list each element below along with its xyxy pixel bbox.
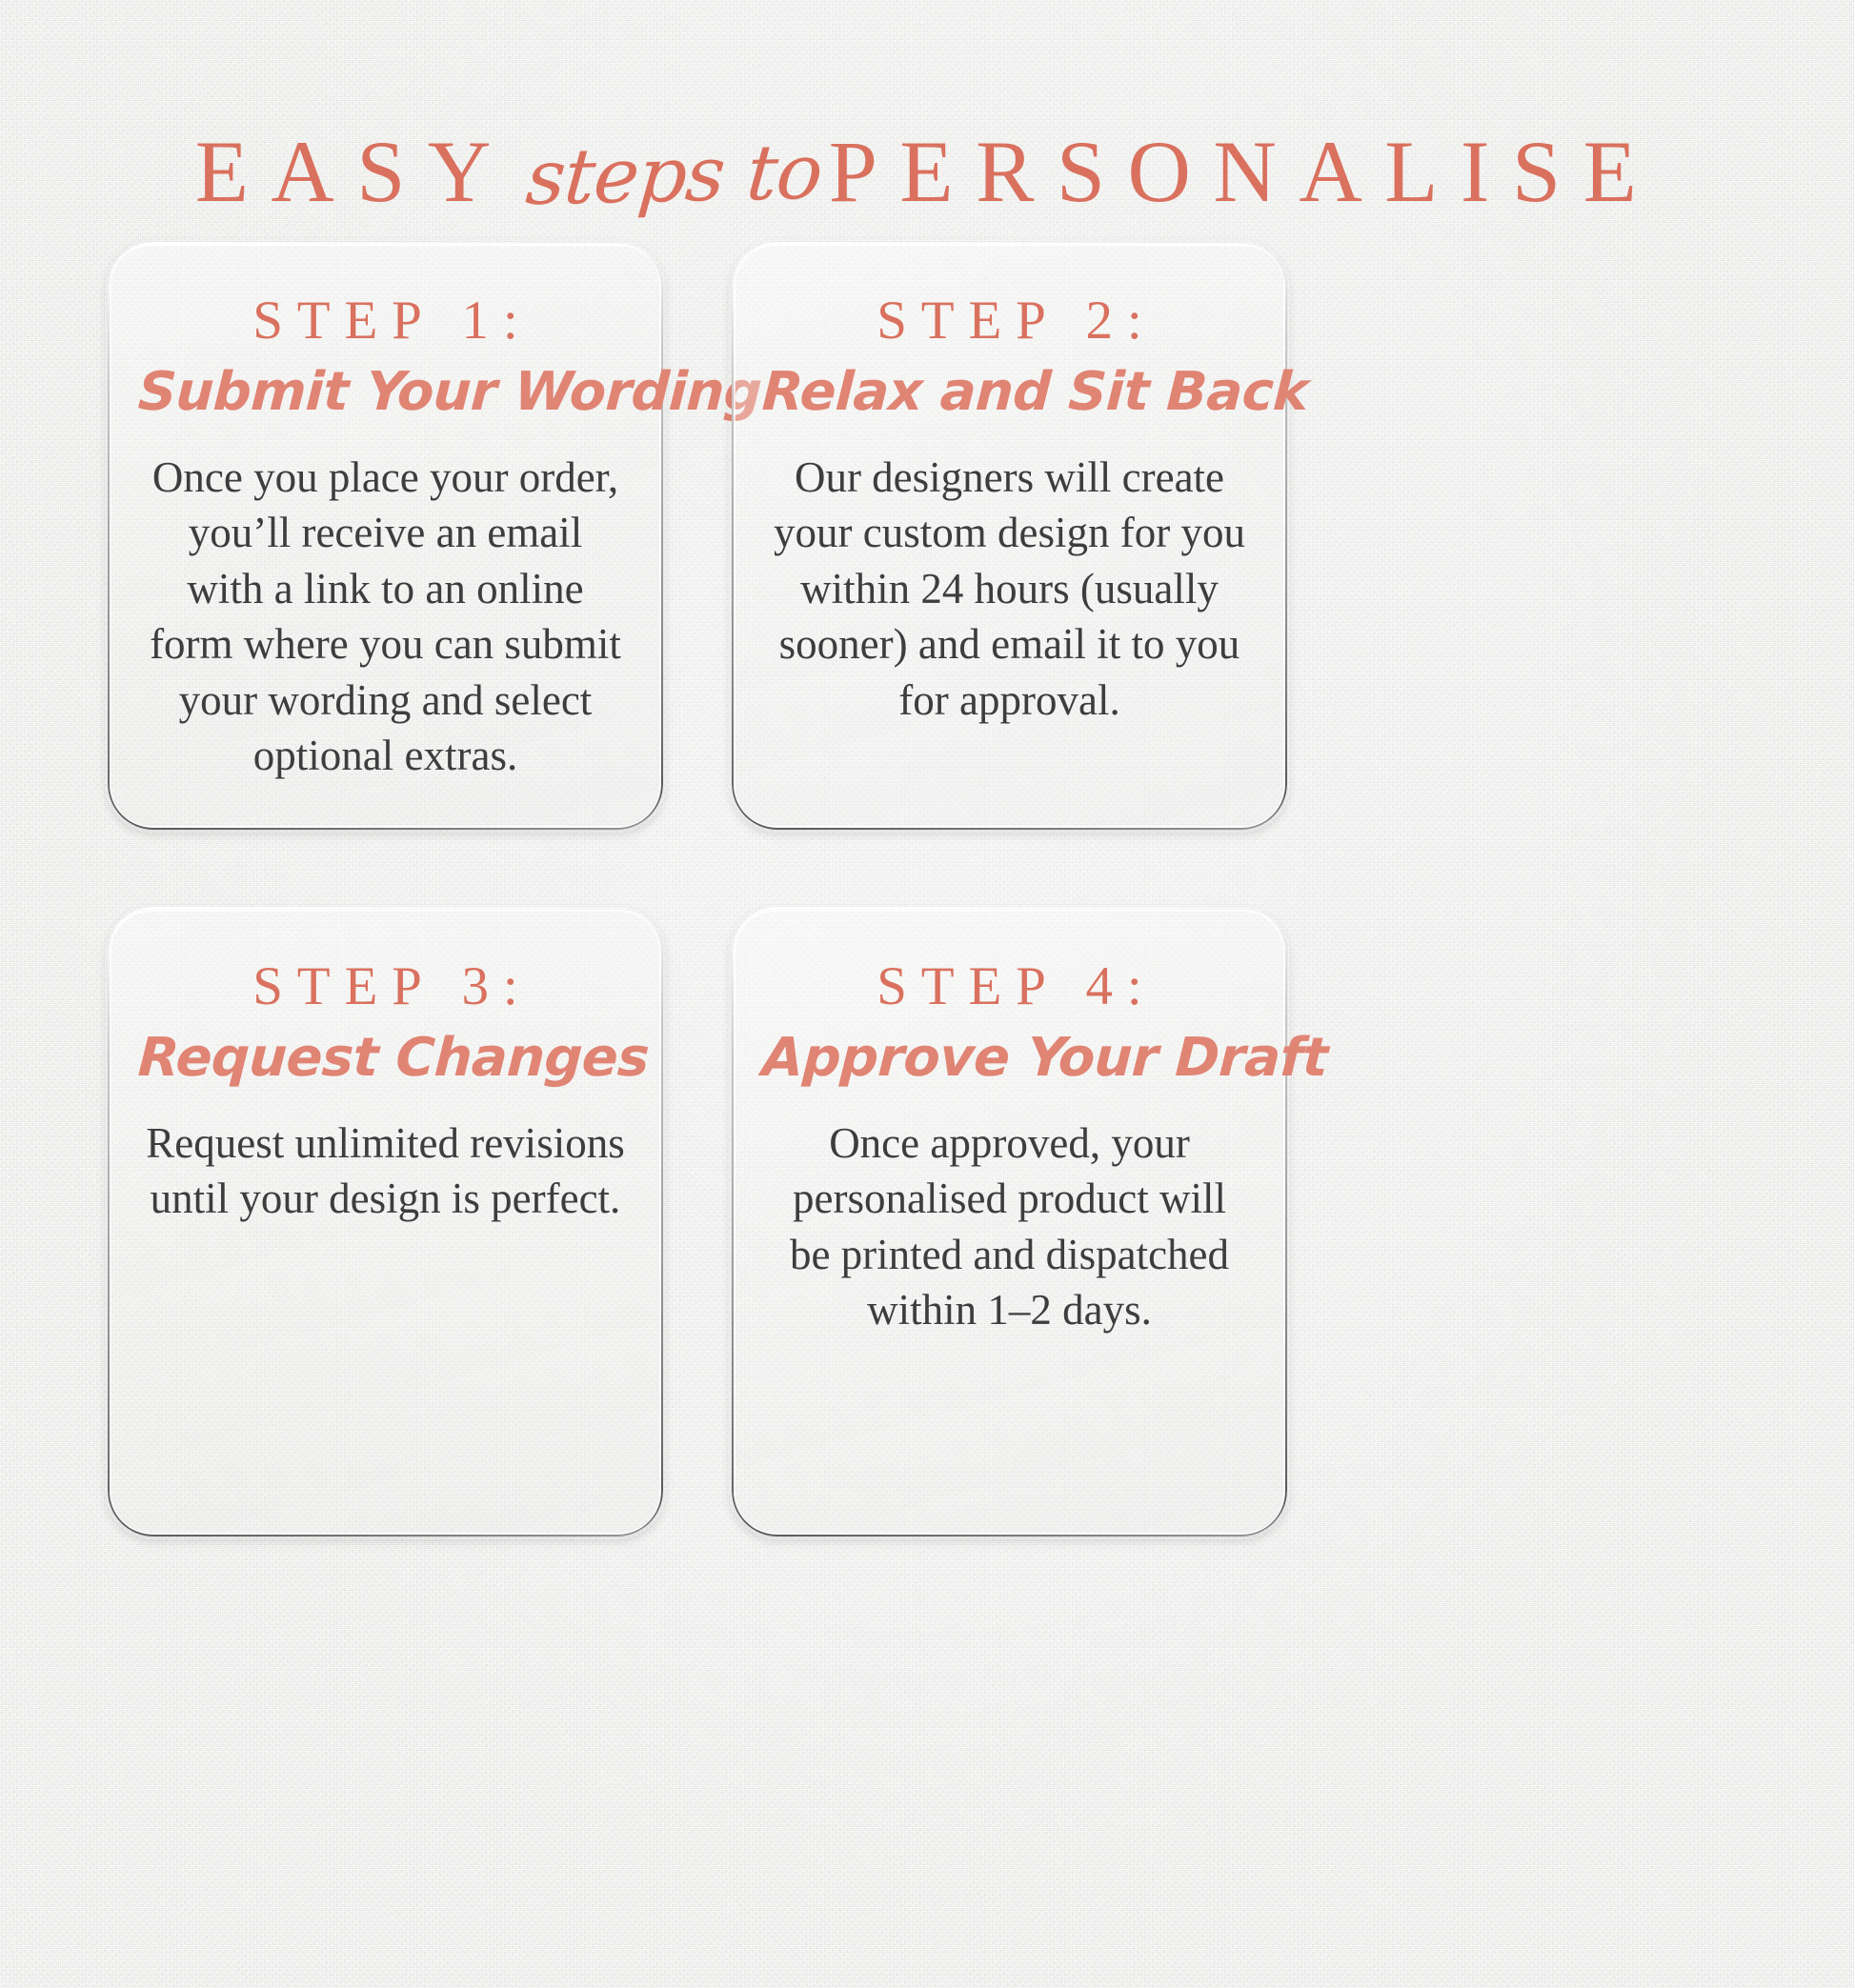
headline-part-two: PERSONALISE: [829, 123, 1659, 220]
step-2-body: Our designers will create your custom de…: [762, 450, 1257, 729]
headline-part-one: EASY: [195, 123, 514, 220]
step-4-body: Once approved, your personalised product…: [762, 1115, 1257, 1338]
personalisation-steps-infographic: EASYsteps toPERSONALISE STEP 1: Submit Y…: [0, 0, 1854, 1988]
step-4-title: Approve Your Draft: [760, 1031, 1258, 1087]
step-3-label: STEP 3:: [138, 959, 633, 1014]
page-title: EASYsteps toPERSONALISE: [0, 128, 1854, 215]
steps-card-grid: STEP 1: Submit Your Wording Once you pla…: [108, 242, 1746, 1536]
step-1-body: Once you place your order, you’ll receiv…: [138, 450, 633, 784]
step-card-1: STEP 1: Submit Your Wording Once you pla…: [108, 242, 663, 830]
step-3-title: Request Changes: [136, 1031, 634, 1087]
headline-script-phrase: steps to: [510, 134, 832, 217]
step-2-title: Relax and Sit Back: [760, 365, 1258, 421]
step-1-title: Submit Your Wording: [136, 365, 634, 421]
step-card-4: STEP 4: Approve Your Draft Once approved…: [732, 908, 1287, 1536]
step-2-label: STEP 2:: [762, 293, 1257, 348]
step-3-body: Request unlimited revisions until your d…: [138, 1115, 633, 1227]
step-4-label: STEP 4:: [762, 959, 1257, 1014]
step-card-2: STEP 2: Relax and Sit Back Our designers…: [732, 242, 1287, 830]
step-1-label: STEP 1:: [138, 293, 633, 348]
step-card-3: STEP 3: Request Changes Request unlimite…: [108, 908, 663, 1536]
